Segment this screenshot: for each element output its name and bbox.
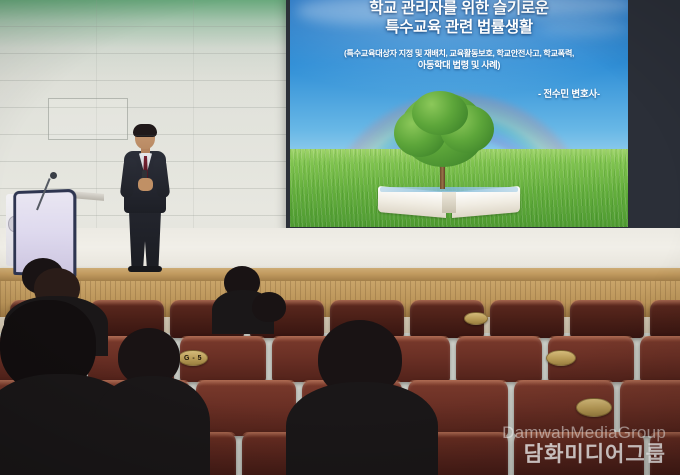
speaker-legs xyxy=(129,211,161,269)
slide-title-line-1: 학교 관리자를 위한 슬기로운 xyxy=(369,0,549,17)
slide-subtitle-line-1: (특수교육대상자 지정 및 재배치, 교육활동보호, 학교안전사고, 학교폭력, xyxy=(344,49,574,58)
seat xyxy=(570,300,644,338)
slide-title: 학교 관리자를 위한 슬기로운 특수교육 관련 법률생활 xyxy=(290,0,628,38)
seat-plate xyxy=(546,350,576,366)
slide-subtitle-line-2: 아동학대 법령 및 사례) xyxy=(294,60,624,72)
seat xyxy=(456,336,542,382)
speaker-hands xyxy=(138,178,153,191)
podium xyxy=(6,178,78,270)
audience-head xyxy=(252,292,286,322)
seat xyxy=(650,432,680,475)
lecture-hall-photo: 학교 관리자를 위한 슬기로운 특수교육 관련 법률생활 (특수교육대상자 지정… xyxy=(0,0,680,475)
slide-title-line-2: 특수교육 관련 법률생활 xyxy=(290,19,628,38)
seat xyxy=(650,300,680,338)
slide-subtitle: (특수교육대상자 지정 및 재배치, 교육활동보호, 학교안전사고, 학교폭력,… xyxy=(294,49,624,72)
book-spine xyxy=(442,191,456,213)
seat-plate xyxy=(464,312,488,325)
seat xyxy=(620,380,680,436)
projection-screen: 학교 관리자를 위한 슬기로운 특수교육 관련 법률생활 (특수교육대상자 지정… xyxy=(290,0,628,227)
glasses-icon xyxy=(135,135,155,140)
seat xyxy=(490,300,564,338)
speaker-presenter xyxy=(118,126,172,272)
seat xyxy=(514,432,644,475)
speaker-shoes xyxy=(128,266,162,272)
seat-plate xyxy=(576,398,612,417)
slide-presenter-credit: - 전수민 변호사- xyxy=(538,86,600,100)
tree-foliage xyxy=(412,91,468,135)
wall-access-panel xyxy=(48,98,128,140)
seat xyxy=(640,336,680,382)
stage-edge-trim xyxy=(0,268,680,281)
book-page-edge xyxy=(380,187,518,192)
stage-floor xyxy=(0,228,680,272)
audience-shoulders xyxy=(286,382,438,475)
microphone-head-icon xyxy=(50,172,57,179)
audience-shoulders xyxy=(94,376,210,475)
seat xyxy=(196,380,296,436)
seat-plate: G - 5 xyxy=(178,350,208,366)
open-book-graphic xyxy=(378,185,520,215)
